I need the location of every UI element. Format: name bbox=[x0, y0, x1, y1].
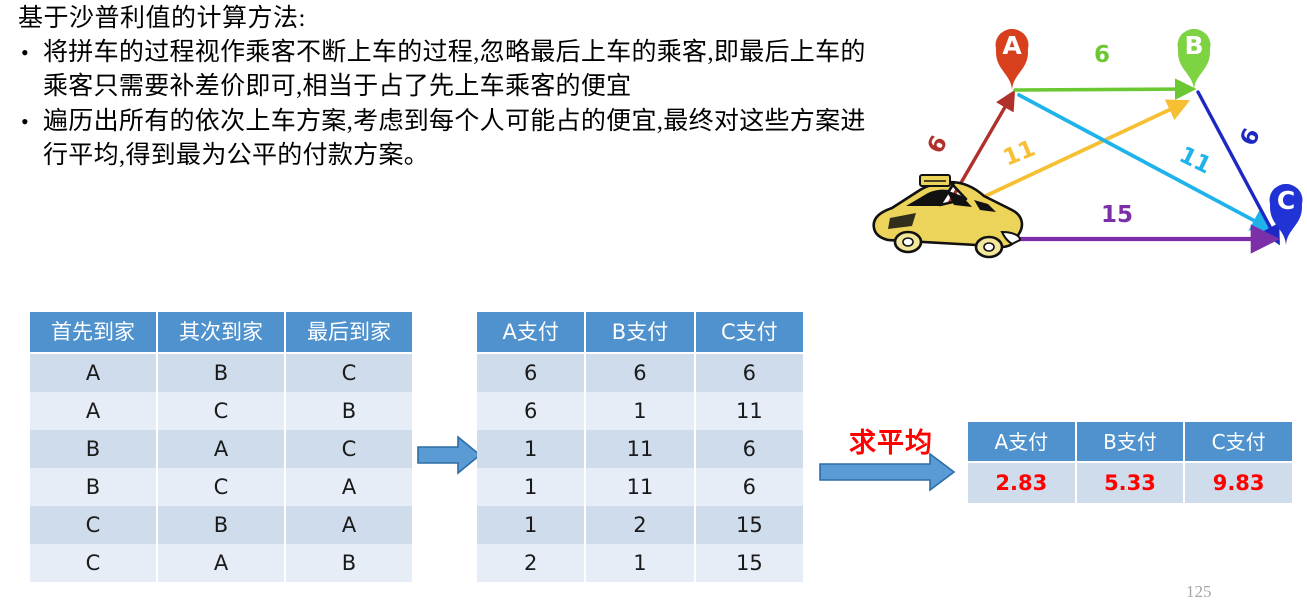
cell-c-average: 9.83 bbox=[1184, 462, 1292, 503]
bullet-marker-icon: • bbox=[18, 105, 43, 139]
bullet-marker-icon: • bbox=[18, 36, 43, 70]
column-header-a-pays: A支付 bbox=[477, 312, 585, 353]
cell-a-average: 2.83 bbox=[968, 462, 1076, 503]
table-row: B C A bbox=[30, 468, 412, 506]
edge-label-b-to-c: 6 bbox=[1235, 125, 1265, 150]
cell: 6 bbox=[477, 392, 585, 430]
map-pin-a: A bbox=[996, 29, 1029, 90]
cell: A bbox=[285, 468, 412, 506]
table-row: B A C bbox=[30, 430, 412, 468]
cell-b-average: 5.33 bbox=[1076, 462, 1185, 503]
cell: 1 bbox=[477, 430, 585, 468]
table-row: C A B bbox=[30, 544, 412, 582]
edge-label-taxi-to-c: 15 bbox=[1101, 202, 1133, 228]
edge-label-taxi-to-b: 11 bbox=[1000, 135, 1039, 171]
cell: 15 bbox=[695, 544, 803, 582]
table-header-row: A支付 B支付 C支付 bbox=[968, 422, 1292, 462]
cell: A bbox=[30, 392, 157, 430]
table-row: A B C bbox=[30, 353, 412, 392]
cell: A bbox=[30, 353, 157, 392]
cell: 11 bbox=[695, 392, 803, 430]
pin-c-label: C bbox=[1277, 186, 1295, 215]
pin-b-label: B bbox=[1184, 31, 1203, 60]
map-pin-b: B bbox=[1178, 29, 1211, 90]
cell: 1 bbox=[477, 506, 585, 544]
column-header-first-home: 首先到家 bbox=[30, 312, 157, 353]
table-row: C B A bbox=[30, 506, 412, 544]
table-row: 1 11 6 bbox=[477, 430, 803, 468]
cell: C bbox=[157, 468, 285, 506]
table-row: 2.83 5.33 9.83 bbox=[968, 462, 1292, 503]
page-number: 125 bbox=[1186, 582, 1212, 602]
table-row: 6 6 6 bbox=[477, 353, 803, 392]
right-arrow-icon bbox=[820, 454, 954, 490]
cell: C bbox=[285, 353, 412, 392]
cell: 2 bbox=[585, 506, 694, 544]
edge-label-taxi-to-a: 6 bbox=[923, 132, 953, 158]
cell: C bbox=[285, 430, 412, 468]
bullet-text: 将拼车的过程视作乘客不断上车的过程,忽略最后上车的乘客,即最后上车的乘客只需要补… bbox=[43, 36, 868, 104]
cell: B bbox=[157, 353, 285, 392]
cell: 6 bbox=[695, 430, 803, 468]
bullet-item: • 遍历出所有的依次上车方案,考虑到每个人可能占的便宜,最终对这些方案进行平均,… bbox=[18, 105, 868, 173]
right-arrow-icon bbox=[418, 437, 480, 473]
cell: 15 bbox=[695, 506, 803, 544]
cell: 1 bbox=[585, 544, 694, 582]
table-row: A C B bbox=[30, 392, 412, 430]
cell: B bbox=[285, 392, 412, 430]
table-row: 1 2 15 bbox=[477, 506, 803, 544]
cell: B bbox=[157, 506, 285, 544]
average-payment-table: A支付 B支付 C支付 2.83 5.33 9.83 bbox=[968, 422, 1292, 503]
cell: A bbox=[157, 430, 285, 468]
column-header-b-pays: B支付 bbox=[585, 312, 694, 353]
column-header-b-pays: B支付 bbox=[1076, 422, 1185, 462]
bullet-item: • 将拼车的过程视作乘客不断上车的过程,忽略最后上车的乘客,即最后上车的乘客只需… bbox=[18, 36, 868, 104]
slide-canvas: 基于沙普利值的计算方法: • 将拼车的过程视作乘客不断上车的过程,忽略最后上车的… bbox=[0, 0, 1307, 616]
table-row: 2 1 15 bbox=[477, 544, 803, 582]
cell: 11 bbox=[585, 468, 694, 506]
cell: 6 bbox=[585, 353, 694, 392]
cell: A bbox=[285, 506, 412, 544]
cell: 2 bbox=[477, 544, 585, 582]
column-header-a-pays: A支付 bbox=[968, 422, 1076, 462]
edge-label-a-to-c: 11 bbox=[1175, 142, 1215, 179]
column-header-last-home: 最后到家 bbox=[285, 312, 412, 353]
cell: 6 bbox=[695, 468, 803, 506]
cell: C bbox=[157, 392, 285, 430]
cell: 1 bbox=[585, 392, 694, 430]
arrival-order-table: 首先到家 其次到家 最后到家 A B C A C B B A C B bbox=[30, 312, 412, 582]
edge-label-a-to-b: 6 bbox=[1094, 42, 1110, 68]
table-row: 1 11 6 bbox=[477, 468, 803, 506]
cell: C bbox=[30, 506, 157, 544]
flow-arrow-to-average-table bbox=[818, 452, 956, 497]
pin-a-label: A bbox=[1002, 31, 1022, 60]
text-content-block: 基于沙普利值的计算方法: • 将拼车的过程视作乘客不断上车的过程,忽略最后上车的… bbox=[18, 2, 868, 173]
payment-scenarios-table: A支付 B支付 C支付 6 6 6 6 1 11 1 11 6 1 bbox=[477, 312, 803, 582]
column-header-second-home: 其次到家 bbox=[157, 312, 285, 353]
cell: B bbox=[30, 468, 157, 506]
cell: A bbox=[157, 544, 285, 582]
table-header-row: A支付 B支付 C支付 bbox=[477, 312, 803, 353]
cell: 1 bbox=[477, 468, 585, 506]
column-header-c-pays: C支付 bbox=[1184, 422, 1292, 462]
page-title: 基于沙普利值的计算方法: bbox=[18, 2, 868, 35]
cell: 11 bbox=[585, 430, 694, 468]
column-header-c-pays: C支付 bbox=[695, 312, 803, 353]
cell: B bbox=[30, 430, 157, 468]
cell: C bbox=[30, 544, 157, 582]
flow-arrow-to-payment-table bbox=[416, 434, 482, 481]
cell: B bbox=[285, 544, 412, 582]
cell: 6 bbox=[477, 353, 585, 392]
cell: 6 bbox=[695, 353, 803, 392]
edge-a-to-b bbox=[1015, 89, 1190, 90]
table-header-row: 首先到家 其次到家 最后到家 bbox=[30, 312, 412, 353]
bullet-text: 遍历出所有的依次上车方案,考虑到每个人可能占的便宜,最终对这些方案进行平均,得到… bbox=[43, 105, 868, 173]
route-graph-diagram: A B C 6 6 11 11 6 15 bbox=[862, 0, 1307, 290]
table-row: 6 1 11 bbox=[477, 392, 803, 430]
